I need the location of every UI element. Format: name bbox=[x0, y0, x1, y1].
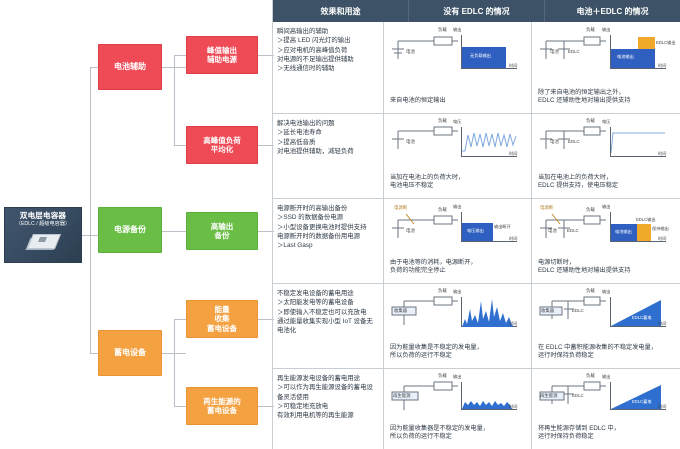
cell-with-edlc: 再生能源 EDLC 负载 EDLC蓄电 输出 时间 bbox=[532, 369, 680, 449]
chart-annotation: 输出断开 bbox=[494, 224, 511, 230]
desc-line: ＞应对电机的高峰值负荷 bbox=[277, 46, 379, 55]
chart-annotation: 保持输出 bbox=[652, 226, 669, 232]
circuit-load-label: 负载 bbox=[438, 207, 447, 213]
circuit-diagram bbox=[390, 29, 460, 71]
connector bbox=[174, 319, 175, 406]
circuit-edlc-label: EDLC bbox=[572, 393, 584, 398]
diagram-caption: 在 EDLC 中蓄积能源收集的不稳定发电量， 运行时保持负荷稳定 bbox=[538, 344, 657, 361]
cell-description: 解决电池输出的问题 ＞延长电池寿命 ＞提高低音质 对电池提供辅助，减轻负荷 bbox=[273, 114, 384, 198]
subcategory-peak-output-aux[interactable]: 峰值输出 辅助电源 bbox=[186, 36, 258, 74]
x-axis-label: 时间 bbox=[509, 321, 517, 327]
ramp-triangle bbox=[611, 382, 661, 410]
circuit-load-label: 负载 bbox=[438, 373, 447, 379]
caption-line: 负荷的功能完全停止 bbox=[390, 267, 477, 276]
bar-label: 无负载输出 bbox=[470, 53, 491, 59]
voltage-chart: 电压 时间 bbox=[457, 125, 521, 165]
desc-line: 不稳定发电设备的蓄电用途 bbox=[277, 289, 379, 298]
circuit-note-label: 电源断 bbox=[394, 205, 407, 211]
desc-line: ＞无线通信时的辅助 bbox=[277, 64, 379, 73]
desc-line: ＞Last Gasp bbox=[277, 241, 379, 250]
diagram-caption: 将再生能源存储到 EDLC 中， 运行时保持负荷稳定 bbox=[538, 425, 620, 442]
desc-line: 电源断开时的数据备份用电源 bbox=[277, 232, 379, 241]
y-axis-label: 输出 bbox=[453, 290, 461, 294]
comparison-table: 效果和用途 没有 EDLC 的情况 电池＋EDLC 的情况 瞬间高输出的辅助 ＞… bbox=[272, 0, 680, 449]
connector bbox=[90, 235, 91, 353]
caption-line: 所以负荷的运行不稳定 bbox=[390, 352, 483, 361]
y-axis-label: 输出 bbox=[453, 205, 461, 209]
desc-line: 解决电池输出的问题 bbox=[277, 119, 379, 128]
circuit-load-label: 负载 bbox=[586, 373, 595, 379]
output-chart: 无负载输出 输出 时间 bbox=[457, 33, 521, 73]
y-axis-label: 电压 bbox=[453, 120, 461, 124]
circuit-diagram bbox=[390, 210, 460, 250]
connector bbox=[174, 319, 186, 320]
subcategory-label-line3: 蓄电设备 bbox=[207, 324, 237, 333]
capacitor-chip-icon bbox=[26, 230, 60, 251]
spiky-peaks-waveform bbox=[462, 297, 514, 327]
desc-line: ＞提高 LED 闪光灯的输出 bbox=[277, 36, 379, 45]
cell-with-edlc: 电池 EDLC 负载 电压 时间 当 bbox=[532, 114, 680, 198]
circuit-load-label: 负载 bbox=[586, 288, 595, 294]
desc-line: 对电池提供辅助，减轻负荷 bbox=[277, 147, 379, 156]
x-axis-label: 时间 bbox=[509, 151, 517, 157]
cell-without-edlc: 电源断 电池 负载 电压输出 输出断开 输出 时间 bbox=[384, 199, 532, 283]
cell-description: 瞬间高输出的辅助 ＞提高 LED 闪光灯的输出 ＞应对电机的高峰值负荷 对电源的… bbox=[273, 22, 384, 113]
circuit-load-label: 负载 bbox=[438, 27, 447, 33]
y-axis-label: 电压 bbox=[602, 120, 610, 124]
output-chart: 电池输出 EDLC输出 输出 时间 bbox=[606, 33, 670, 73]
desc-line: 备灵活使用 bbox=[277, 393, 379, 402]
desc-line: ＞太阳能发电等的蓄电设备 bbox=[277, 298, 379, 307]
diagram-caption: 因为能量收集是不稳定的发电量， 所以负荷的运行不稳定 bbox=[390, 344, 483, 361]
desc-line: ＞可以作为再生能源设备的蓄电设 bbox=[277, 383, 379, 392]
circuit-source-label: 电池 bbox=[406, 139, 415, 145]
bar-label: EDLC输出 bbox=[656, 40, 676, 46]
regen-chart: 输出 时间 bbox=[457, 380, 521, 420]
caption-line: 所以负荷的运行不稳定 bbox=[390, 433, 489, 442]
cell-without-edlc: 电池 负载 无负载输出 输出 时间 来自电池的恒定输出 bbox=[384, 22, 532, 113]
x-axis-label: 时间 bbox=[658, 321, 666, 327]
header-without-edlc: 没有 EDLC 的情况 bbox=[409, 0, 545, 22]
category-label: 蓄电设备 bbox=[114, 348, 146, 358]
desc-line: 再生能源发电设备的蓄电用途 bbox=[277, 374, 379, 383]
harvest-chart: 输出 时间 bbox=[457, 295, 521, 335]
category-power-backup[interactable]: 电源备份 bbox=[98, 207, 162, 253]
caption-line: 电池电压不稳定 bbox=[390, 182, 464, 191]
category-label: 电源备份 bbox=[114, 225, 146, 235]
caption-line: 运行时保持负荷稳定 bbox=[538, 433, 620, 442]
subcategory-energy-harvesting-storage[interactable]: 能量 收集 蓄电设备 bbox=[186, 300, 258, 338]
root-node[interactable]: 双电层电容器 （EDLC / 超级电容器） bbox=[4, 207, 82, 263]
storage-chart: EDLC蓄电 输出 时间 bbox=[606, 380, 670, 420]
subcategory-renewable-storage[interactable]: 再生能源的 蓄电设备 bbox=[186, 387, 258, 425]
cell-without-edlc: 电池 负载 电压 时间 当加在电池上的负荷大时， bbox=[384, 114, 532, 198]
subcategory-label-line2: 蓄电设备 bbox=[207, 406, 237, 415]
connector bbox=[174, 406, 186, 407]
subcategory-label-line2: 辅助电源 bbox=[207, 55, 237, 64]
circuit-edlc-label: EDLC bbox=[568, 49, 580, 54]
desc-line: 有效利用电机等的再生能源 bbox=[277, 411, 379, 420]
circuit-load-label: 负载 bbox=[438, 118, 447, 124]
x-axis-label: 时间 bbox=[658, 151, 666, 157]
category-storage-device[interactable]: 蓄电设备 bbox=[98, 330, 162, 376]
category-label: 电池辅助 bbox=[114, 62, 146, 72]
y-axis-label: 输出 bbox=[602, 28, 610, 32]
circuit-edlc-label: EDLC bbox=[568, 139, 580, 144]
cell-without-edlc: 再生能源 负载 输出 时间 因为能量收集器是不稳定的发电量， bbox=[384, 369, 532, 449]
table-row: 瞬间高输出的辅助 ＞提高 LED 闪光灯的输出 ＞应对电机的高峰值负荷 对电源的… bbox=[273, 22, 680, 114]
cell-without-edlc: 收集器 负载 输出 时间 因为能量收集是不稳定的发电量， bbox=[384, 284, 532, 368]
desc-line: 对电源的不足输出提供辅助 bbox=[277, 55, 379, 64]
desc-line: ＞延长电池寿命 bbox=[277, 128, 379, 137]
table-row: 再生能源发电设备的蓄电用途 ＞可以作为再生能源设备的蓄电设 备灵活使用 ＞可稳定… bbox=[273, 369, 680, 449]
subcategory-label-line1: 再生能源的 bbox=[203, 397, 241, 406]
caption-line: EDLC 还辅助性地对输出提供支持 bbox=[538, 267, 630, 276]
subcategory-label-line1: 能量 bbox=[215, 305, 230, 314]
cell-description: 再生能源发电设备的蓄电用途 ＞可以作为再生能源设备的蓄电设 备灵活使用 ＞可稳定… bbox=[273, 369, 384, 449]
cell-with-edlc: 电池 EDLC 负载 电池输出 EDLC输出 输出 时间 bbox=[532, 22, 680, 113]
connector bbox=[174, 55, 186, 56]
subcategory-label-line1: 高峰值负荷 bbox=[203, 136, 241, 145]
bar-label: 电池输出 bbox=[615, 229, 632, 235]
subcategory-label-line2: 平均化 bbox=[211, 145, 234, 154]
table-row: 不稳定发电设备的蓄电用途 ＞太阳能发电等的蓄电设备 ＞即使输入不稳定也可以充放电… bbox=[273, 284, 680, 369]
connector bbox=[90, 67, 91, 253]
bar-label: 电池输出 bbox=[617, 54, 634, 60]
voltage-chart: 电压 时间 bbox=[606, 125, 670, 165]
subcategory-peak-load-leveling[interactable]: 高峰值负荷 平均化 bbox=[186, 126, 258, 164]
diagram-caption: 除了来自电池的恒定输出之外， EDLC 还辅助性地对输出提供支持 bbox=[538, 89, 630, 106]
cell-description: 不稳定发电设备的蓄电用途 ＞太阳能发电等的蓄电设备 ＞即使输入不稳定也可以充放电… bbox=[273, 284, 384, 368]
subcategory-label-line2: 备份 bbox=[215, 231, 230, 240]
desc-line: 电池化 bbox=[277, 326, 379, 335]
circuit-source-label: 收集器 bbox=[394, 308, 407, 314]
circuit-note-label: 电源断 bbox=[540, 205, 553, 211]
circuit-diagram bbox=[390, 121, 460, 161]
y-axis-label: 输出 bbox=[602, 290, 610, 294]
circuit-load-label: 负载 bbox=[586, 207, 595, 213]
caption-line: EDLC 提供支持，使电压稳定 bbox=[538, 182, 618, 191]
caption-line: 来自电池的恒定输出 bbox=[390, 97, 446, 106]
diagram-caption: 当加在电池上的负荷大时， EDLC 提供支持，使电压稳定 bbox=[538, 174, 618, 191]
diagram-root: 双电层电容器 （EDLC / 超级电容器） 电池辅助 电源备份 蓄电设备 峰值输… bbox=[0, 0, 680, 449]
circuit-source-label: 电池 bbox=[406, 49, 415, 55]
circuit-load-label: 负载 bbox=[586, 27, 595, 33]
desc-line: 瞬间高输出的辅助 bbox=[277, 27, 379, 36]
bar-label: EDLC蓄电 bbox=[632, 399, 652, 405]
desc-line: ＞SSD 的数据备份电源 bbox=[277, 213, 379, 222]
y-axis-label: 输出 bbox=[453, 375, 461, 379]
circuit-edlc-label: EDLC bbox=[572, 308, 584, 313]
desc-line: ＞提高低音质 bbox=[277, 138, 379, 147]
root-title: 双电层电容器 bbox=[20, 211, 66, 220]
output-chart: 电池输出 EDLC输出 保持输出 输出 时间 bbox=[606, 210, 670, 250]
circuit-source-label: 电池 bbox=[548, 228, 557, 234]
circuit-source-label: 电池 bbox=[406, 228, 415, 234]
header-effect-usage: 效果和用途 bbox=[273, 0, 409, 22]
subcategory-label-line1: 峰值输出 bbox=[207, 46, 237, 55]
table-body: 瞬间高输出的辅助 ＞提高 LED 闪光灯的输出 ＞应对电机的高峰值负荷 对电源的… bbox=[273, 22, 680, 449]
diagram-caption: 由于电池等的消耗，电源断开， 负荷的功能完全停止 bbox=[390, 259, 477, 276]
subcategory-label-line2: 收集 bbox=[215, 314, 230, 323]
table-row: 解决电池输出的问题 ＞延长电池寿命 ＞提高低音质 对电池提供辅助，减轻负荷 bbox=[273, 114, 680, 199]
x-axis-label: 时间 bbox=[658, 404, 666, 410]
circuit-edlc-label: EDLC bbox=[567, 228, 579, 233]
table-header-row: 效果和用途 没有 EDLC 的情况 电池＋EDLC 的情况 bbox=[273, 0, 680, 22]
desc-line: 通过能量收集实现小型 IoT 设备无 bbox=[277, 317, 379, 326]
cell-description: 电源断开时的高输出备份 ＞SSD 的数据备份电源 ＞小型设备更换电池时提供支持 … bbox=[273, 199, 384, 283]
circuit-source-label: 电池 bbox=[550, 139, 559, 145]
storage-chart: EDLC蓄电 输出 时间 bbox=[606, 295, 670, 335]
circuit-source-label: 电池 bbox=[550, 49, 559, 55]
subcategory-label-line1: 高输出 bbox=[211, 222, 234, 231]
desc-line: ＞小型设备更换电池时提供支持 bbox=[277, 223, 379, 232]
connector bbox=[90, 67, 98, 68]
diagram-caption: 因为能量收集器是不稳定的发电量， 所以负荷的运行不稳定 bbox=[390, 425, 489, 442]
caption-line: EDLC 还辅助性地对输出提供支持 bbox=[538, 97, 630, 106]
cell-with-edlc: 电源断 电池 EDLC 负载 电池输出 EDLC输出 保持输出 输出 bbox=[532, 199, 680, 283]
header-with-edlc: 电池＋EDLC 的情况 bbox=[545, 0, 680, 22]
category-tree: 双电层电容器 （EDLC / 超级电容器） 电池辅助 电源备份 蓄电设备 峰值输… bbox=[0, 0, 272, 449]
x-axis-label: 时间 bbox=[509, 236, 517, 242]
y-axis-label: 输出 bbox=[602, 205, 610, 209]
bar-label: 电压输出 bbox=[467, 228, 484, 234]
cell-with-edlc: 收集器 EDLC 负载 EDLC蓄电 输出 时间 bbox=[532, 284, 680, 368]
circuit-source-label: 再生能源 bbox=[393, 393, 411, 399]
diagram-caption: 电源切断时， EDLC 还辅助性地对输出提供支持 bbox=[538, 259, 630, 276]
diagram-caption: 当加在电池上的负荷大时， 电池电压不稳定 bbox=[390, 174, 464, 191]
x-axis-label: 时间 bbox=[658, 236, 666, 242]
root-subtitle: （EDLC / 超级电容器） bbox=[16, 221, 70, 228]
connector bbox=[174, 55, 175, 145]
desc-line: 电源断开时的高输出备份 bbox=[277, 204, 379, 213]
caption-line: 运行时保持负荷稳定 bbox=[538, 352, 657, 361]
bar-label: EDLC蓄电 bbox=[632, 315, 652, 321]
x-axis-label: 时间 bbox=[509, 404, 517, 410]
circuit-load-label: 负载 bbox=[438, 288, 447, 294]
desc-line: ＞可稳定地充放电 bbox=[277, 402, 379, 411]
output-chart: 电压输出 输出断开 输出 时间 bbox=[457, 210, 521, 250]
bar-label: EDLC输出 bbox=[636, 217, 656, 223]
connector bbox=[90, 353, 98, 354]
subcategory-high-output-backup[interactable]: 高输出 备份 bbox=[186, 212, 258, 250]
circuit-source-label: 收集器 bbox=[541, 308, 554, 314]
desc-line: ＞即使输入不稳定也可以充放电 bbox=[277, 308, 379, 317]
diagram-caption: 来自电池的恒定输出 bbox=[390, 97, 446, 106]
ramp-triangle bbox=[611, 297, 661, 327]
x-axis-label: 时间 bbox=[658, 63, 666, 69]
category-battery-assist[interactable]: 电池辅助 bbox=[98, 44, 162, 90]
circuit-load-label: 负载 bbox=[586, 118, 595, 124]
low-wavy-waveform bbox=[462, 382, 512, 410]
y-axis-label: 输出 bbox=[602, 375, 610, 379]
y-axis-label: 输出 bbox=[453, 28, 461, 32]
circuit-source-label: 再生能源 bbox=[540, 393, 558, 399]
x-axis-label: 时间 bbox=[509, 63, 517, 69]
connector bbox=[162, 231, 186, 232]
connector bbox=[174, 145, 186, 146]
table-row: 电源断开时的高输出备份 ＞SSD 的数据备份电源 ＞小型设备更换电池时提供支持 … bbox=[273, 199, 680, 284]
